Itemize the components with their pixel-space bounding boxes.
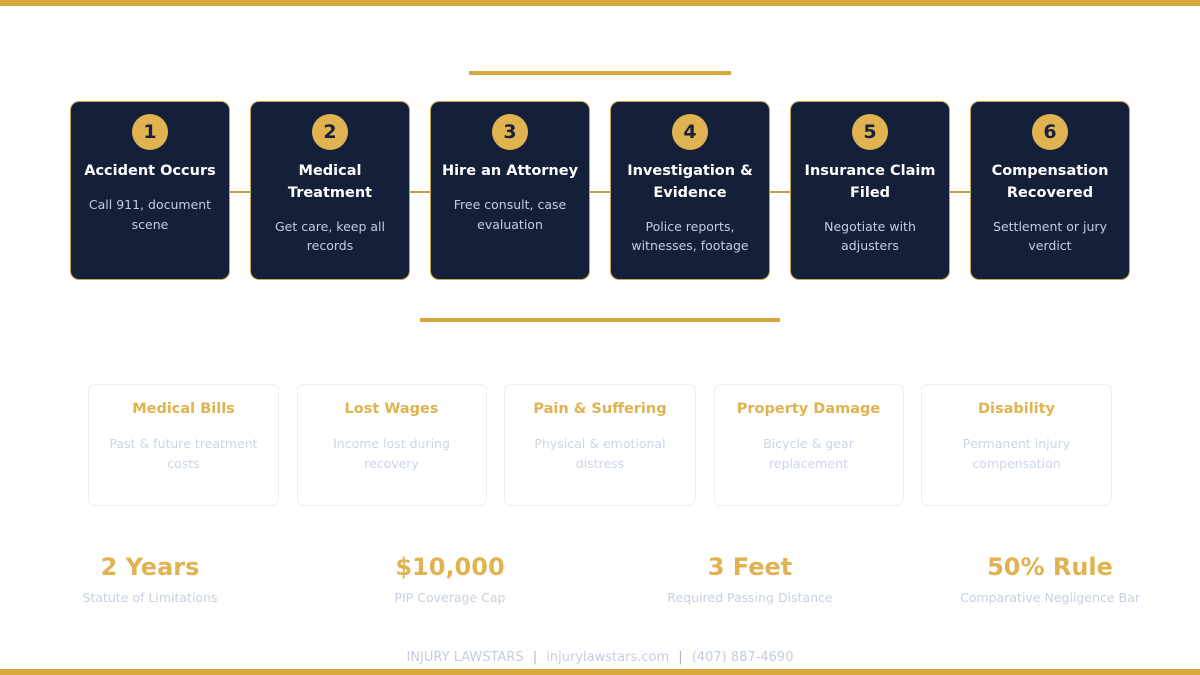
key-statistics: 2 Years Statute of Limitations $10,000 P… (0, 553, 1200, 605)
damage-card-lost-wages[interactable]: Lost Wages Income lost during recovery (297, 384, 487, 506)
step-card-2[interactable]: 2 Medical Treatment Get care, keep all r… (250, 101, 410, 280)
step-card-4[interactable]: 4 Investigation & Evidence Police report… (610, 101, 770, 280)
stat-label: Statute of Limitations (0, 590, 300, 605)
step-connector-5-6 (950, 101, 970, 280)
stat-comparative-negligence: 50% Rule Comparative Negligence Bar (900, 553, 1200, 605)
stat-label: Comparative Negligence Bar (900, 590, 1200, 605)
header: Bicycle Accident Claim Process in Florid… (0, 0, 1200, 75)
step-card-3[interactable]: 3 Hire an Attorney Free consult, case ev… (430, 101, 590, 280)
stat-value: 3 Feet (600, 553, 900, 581)
damages-section-heading: Damages You Can Recover (0, 339, 1200, 367)
footer-website[interactable]: injurylawstars.com (546, 650, 669, 665)
footer-phone[interactable]: (407) 887-4690 (692, 650, 794, 665)
step-description: Call 911, document scene (71, 195, 229, 235)
step-title: Hire an Attorney (436, 161, 584, 183)
step-number-badge: 6 (1032, 114, 1068, 150)
damage-title: Medical Bills (132, 401, 235, 417)
stat-pip-coverage-cap: $10,000 PIP Coverage Cap (300, 553, 600, 605)
title-underline (469, 71, 731, 75)
step-card-6[interactable]: 6 Compensation Recovered Settlement or j… (970, 101, 1130, 280)
footer-separator: | (528, 650, 542, 665)
step-title: Medical Treatment (251, 161, 409, 205)
damage-title: Lost Wages (345, 401, 439, 417)
damage-description: Bicycle & gear replacement (715, 434, 903, 474)
damage-card-medical-bills[interactable]: Medical Bills Past & future treatment co… (88, 384, 279, 506)
step-card-5[interactable]: 5 Insurance Claim Filed Negotiate with a… (790, 101, 950, 280)
step-description: Police reports, witnesses, footage (611, 217, 769, 257)
step-title: Accident Occurs (78, 161, 222, 183)
damage-title: Property Damage (737, 401, 880, 417)
footer-separator: | (673, 650, 687, 665)
step-number-badge: 1 (132, 114, 168, 150)
damage-title: Disability (978, 401, 1055, 417)
step-description: Get care, keep all records (251, 217, 409, 257)
step-number-badge: 3 (492, 114, 528, 150)
damage-title: Pain & Suffering (533, 401, 666, 417)
step-connector-3-4 (590, 101, 610, 280)
step-number-badge: 2 (312, 114, 348, 150)
damage-description: Past & future treatment costs (89, 434, 278, 474)
stat-label: PIP Coverage Cap (300, 590, 600, 605)
damage-description: Income lost during recovery (298, 434, 486, 474)
step-title: Investigation & Evidence (611, 161, 769, 205)
damage-card-pain-suffering[interactable]: Pain & Suffering Physical & emotional di… (504, 384, 696, 506)
footer: INJURY LAWSTARS | injurylawstars.com | (… (0, 650, 1200, 665)
damage-description: Physical & emotional distress (505, 434, 695, 474)
bottom-accent-bar (0, 669, 1200, 675)
page-title: Bicycle Accident Claim Process in Florid… (0, 22, 1200, 57)
section-divider (420, 318, 780, 322)
stat-value: 50% Rule (900, 553, 1200, 581)
step-title: Insurance Claim Filed (791, 161, 949, 205)
step-connector-4-5 (770, 101, 790, 280)
step-connector-2-3 (410, 101, 430, 280)
step-description: Settlement or jury verdict (971, 217, 1129, 257)
step-card-1[interactable]: 1 Accident Occurs Call 911, document sce… (70, 101, 230, 280)
step-connector-1-2 (230, 101, 250, 280)
footer-firm-name: INJURY LAWSTARS (407, 650, 524, 665)
stat-passing-distance: 3 Feet Required Passing Distance (600, 553, 900, 605)
step-title: Compensation Recovered (971, 161, 1129, 205)
step-description: Negotiate with adjusters (791, 217, 949, 257)
step-description: Free consult, case evaluation (431, 195, 589, 235)
stat-statute-of-limitations: 2 Years Statute of Limitations (0, 553, 300, 605)
damage-card-disability[interactable]: Disability Permanent injury compensation (921, 384, 1112, 506)
damage-card-property-damage[interactable]: Property Damage Bicycle & gear replaceme… (714, 384, 904, 506)
top-accent-bar (0, 0, 1200, 6)
claim-process-steps: 1 Accident Occurs Call 911, document sce… (70, 101, 1130, 280)
stat-label: Required Passing Distance (600, 590, 900, 605)
stat-value: 2 Years (0, 553, 300, 581)
damages-list: Medical Bills Past & future treatment co… (88, 384, 1112, 506)
damage-description: Permanent injury compensation (922, 434, 1111, 474)
step-number-badge: 5 (852, 114, 888, 150)
stat-value: $10,000 (300, 553, 600, 581)
step-number-badge: 4 (672, 114, 708, 150)
